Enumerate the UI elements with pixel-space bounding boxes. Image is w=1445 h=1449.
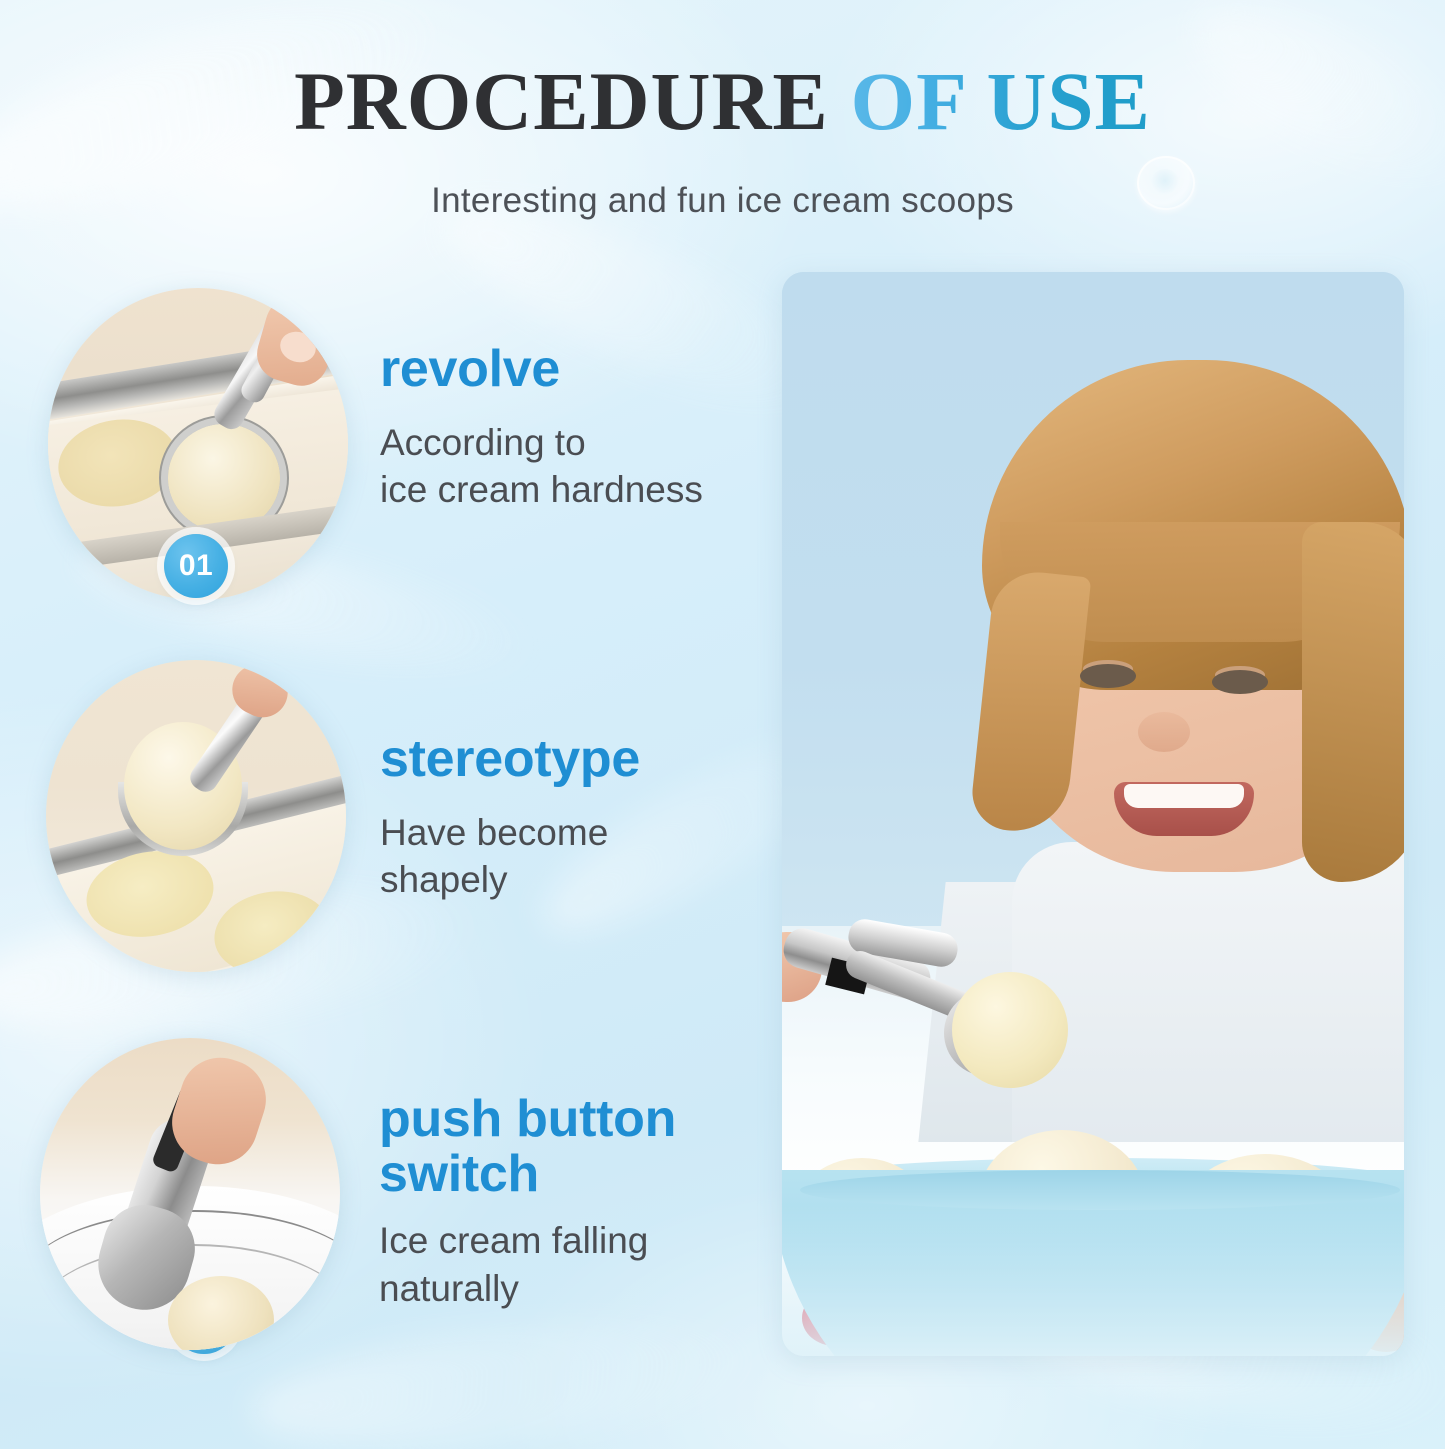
step-label-1: revolve — [380, 342, 703, 397]
step-label-3: push button switch — [379, 1092, 770, 1201]
page-title-accent: OF USE — [851, 55, 1151, 147]
step-description-3-line2: naturally — [379, 1265, 770, 1312]
step-description-3-line1: Ice cream falling — [379, 1217, 770, 1264]
step-description-2-line1: Have become — [380, 809, 640, 856]
hero-product-photo — [782, 272, 1404, 1356]
steps-list: 01 revolve According to ice cream hardne… — [0, 262, 770, 1382]
step-item: 01 revolve According to ice cream hardne… — [0, 262, 770, 612]
step-text-2: stereotype Have become shapely — [380, 732, 640, 903]
step-text-3: push button switch Ice cream falling nat… — [379, 1092, 770, 1312]
step-description-2-line2: shapely — [380, 856, 640, 903]
step-number-badge-1: 01 — [164, 534, 228, 598]
page-title-primary: PROCEDURE — [294, 55, 829, 147]
page-title: PROCEDURE OF USE — [0, 58, 1445, 145]
step-description-1-line1: According to — [380, 419, 703, 466]
poster-root: PROCEDURE OF USE Interesting and fun ice… — [0, 0, 1445, 1449]
step-item: 03 push button switch Ice cream falling … — [0, 1012, 770, 1362]
step-description-1-line2: ice cream hardness — [380, 466, 703, 513]
step-thumbnail-2 — [46, 660, 346, 972]
step-label-2: stereotype — [380, 732, 640, 787]
step-text-1: revolve According to ice cream hardness — [380, 342, 703, 513]
step-thumbnail-3 — [40, 1038, 340, 1350]
step-item: 02 stereotype Have become shapely — [0, 640, 770, 990]
page-subtitle: Interesting and fun ice cream scoops — [0, 181, 1445, 221]
